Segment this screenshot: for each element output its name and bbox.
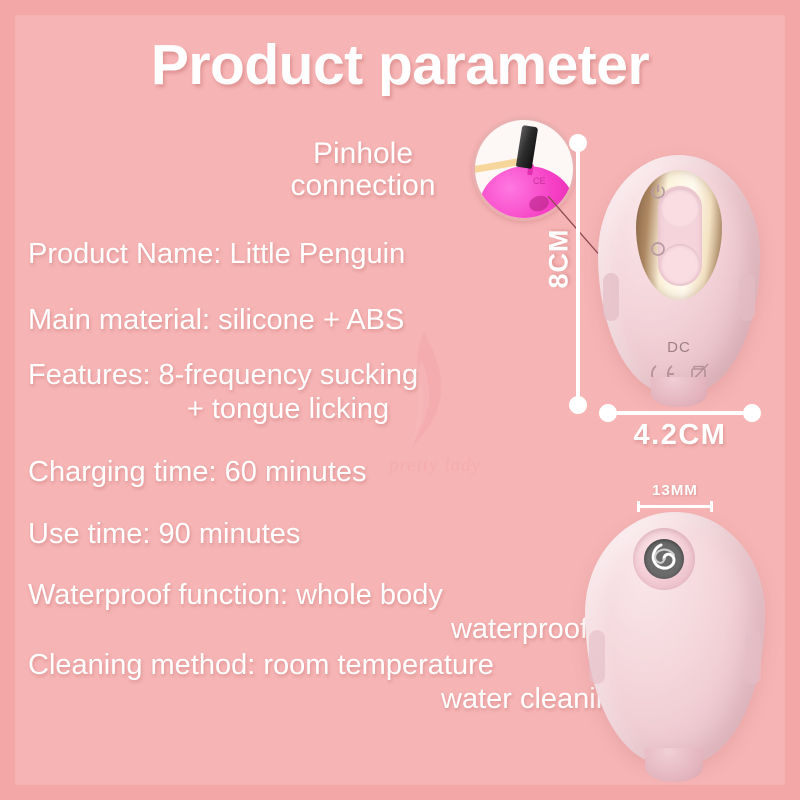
spec-main-material: Main material: silicone + ABS — [28, 303, 548, 337]
suction-mouth — [633, 528, 695, 590]
dc-port-label: DC — [598, 339, 760, 356]
spec-text: Charging time: 60 minutes — [28, 456, 367, 488]
pinhole-magnifier-inset: CE — [472, 117, 576, 221]
spec-waterproof: Waterproof function: whole body waterpro… — [28, 578, 588, 646]
spiral-glyph — [647, 542, 681, 576]
pinhole-label-line2: connection — [290, 169, 435, 202]
circle-icon — [649, 240, 667, 258]
spec-cleaning-method: Cleaning method: room temperature water … — [28, 648, 628, 716]
spec-text: Product Name: Little Penguin — [28, 238, 405, 270]
spec-text: Main material: silicone + ABS — [28, 304, 404, 336]
magnifier-ce-mark: CE — [533, 176, 546, 186]
height-dimension-line — [576, 143, 580, 405]
spec-text-line2: water cleaning — [28, 682, 628, 716]
product-front-shell — [585, 512, 765, 764]
spec-text: Use time: 90 minutes — [28, 518, 300, 550]
product-back-wing-left — [603, 273, 619, 321]
product-front-view — [585, 512, 765, 782]
page-title: Product parameter — [0, 32, 800, 98]
charging-pin-icon — [516, 125, 538, 169]
spec-charging-time: Charging time: 60 minutes — [28, 455, 548, 489]
power-icon — [649, 183, 667, 201]
dimension-dot-bottom — [569, 396, 587, 414]
height-dimension-label: 8CM — [544, 228, 575, 288]
width-dimension-line — [608, 411, 752, 415]
spec-features: Features: 8-frequency sucking + tongue l… — [28, 358, 548, 426]
product-control-pad — [658, 186, 702, 286]
pinhole-label-line1: Pinhole — [313, 137, 413, 170]
product-back-shell: DC — [598, 155, 760, 393]
product-control-window — [636, 170, 722, 300]
product-front-wing-right — [745, 630, 761, 684]
product-back-neck — [651, 377, 707, 407]
dimension-dot-top — [569, 134, 587, 152]
product-back-wing-right — [739, 273, 755, 321]
product-front-neck — [645, 748, 703, 782]
product-parameter-infographic: pretty lady Product parameter Pinhole co… — [0, 0, 800, 800]
mouth-dimension-line — [637, 505, 713, 508]
spec-text: Waterproof function: whole body — [28, 579, 443, 611]
spec-text: Cleaning method: room temperature — [28, 649, 494, 681]
spec-text: Features: 8-frequency sucking — [28, 359, 418, 391]
spec-product-name: Product Name: Little Penguin — [28, 237, 548, 271]
product-back-view: DC — [598, 155, 760, 407]
mouth-dimension-label: 13MM — [620, 482, 730, 499]
spiral-tongue-icon — [644, 539, 684, 579]
product-front-wing-left — [589, 630, 605, 684]
spec-text-line2: waterproof — [28, 612, 588, 646]
pinhole-callout-label: Pinhole connection — [243, 138, 483, 203]
width-dimension-label: 4.2CM — [600, 419, 760, 452]
spec-use-time: Use time: 90 minutes — [28, 517, 548, 551]
spec-text-line2: + tongue licking — [28, 392, 548, 426]
